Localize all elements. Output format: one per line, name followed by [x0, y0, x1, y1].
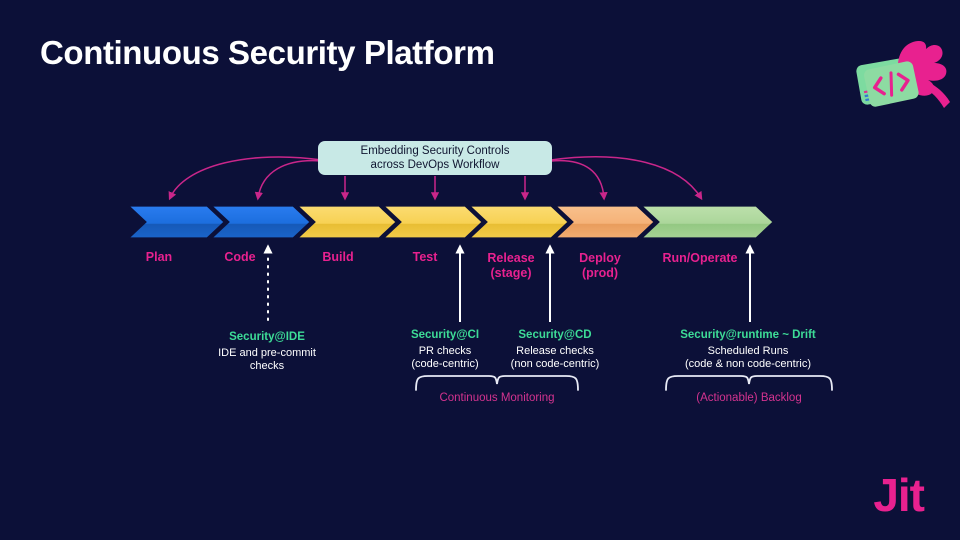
annotation-security-at-ci: Security@CI PR checks (code-centric)	[411, 329, 479, 372]
stage-label-plan-text: Plan	[146, 250, 172, 264]
callout-line-2: across DevOps Workflow	[371, 158, 500, 172]
annotation-ci-line-2: (code-centric)	[411, 358, 479, 372]
stage-label-plan: Plan	[146, 250, 172, 265]
slide-canvas: Continuous Security Platform	[0, 0, 960, 540]
annotation-security-at-runtime: Security@runtime ~ Drift Scheduled Runs …	[680, 329, 816, 372]
connector-to-run-operate	[551, 157, 701, 198]
connector-to-code	[258, 161, 322, 198]
annotation-ci-line-1: PR checks	[411, 345, 479, 359]
connector-to-plan	[170, 157, 322, 198]
stage-label-run-operate: Run/Operate	[662, 251, 737, 266]
annotation-cd-line-2: (non code-centric)	[511, 358, 600, 372]
chevron-code	[212, 206, 310, 238]
chevron-release	[470, 206, 568, 238]
chevron-test	[384, 206, 482, 238]
stage-label-code-text: Code	[224, 250, 255, 264]
stage-label-release-sub: (stage)	[487, 266, 534, 281]
chevron-plan	[129, 206, 224, 238]
stage-label-deploy: Deploy (prod)	[579, 251, 621, 281]
stage-label-deploy-sub: (prod)	[579, 266, 621, 281]
connector-to-deploy	[551, 161, 604, 198]
annotation-runtime-line-2: (code & non code-centric)	[680, 358, 816, 372]
annotation-runtime-head: Security@runtime ~ Drift	[680, 329, 816, 343]
annotation-ci-head: Security@CI	[411, 329, 479, 343]
stage-label-code: Code	[224, 250, 255, 265]
annotation-security-at-cd: Security@CD Release checks (non code-cen…	[511, 329, 600, 372]
callout-line-1: Embedding Security Controls	[361, 144, 510, 158]
stage-label-build: Build	[322, 250, 353, 265]
annotation-ide-head: Security@IDE	[218, 331, 316, 345]
stage-label-release-text: Release	[487, 251, 534, 265]
callout-box: Embedding Security Controls across DevOp…	[318, 141, 552, 175]
stage-label-test-text: Test	[413, 250, 438, 264]
brace-actionable-backlog	[666, 376, 832, 390]
stage-label-test: Test	[413, 250, 438, 265]
annotation-ide-line-1: IDE and pre-commit	[218, 347, 316, 361]
annotation-cd-line-1: Release checks	[511, 345, 600, 359]
brace-group	[416, 376, 832, 390]
annotation-cd-head: Security@CD	[511, 329, 600, 343]
diagram-vector-layer	[0, 0, 960, 540]
stage-label-build-text: Build	[322, 250, 353, 264]
page-title: Continuous Security Platform	[40, 34, 495, 72]
annotation-security-at-ide: Security@IDE IDE and pre-commit checks	[218, 331, 316, 374]
annotation-ide-line-2: checks	[218, 360, 316, 374]
annotation-runtime-line-1: Scheduled Runs	[680, 345, 816, 359]
chevron-run-operate	[642, 206, 773, 238]
chevron-deploy	[556, 206, 654, 238]
chevron-build	[298, 206, 396, 238]
stage-label-deploy-text: Deploy	[579, 251, 621, 265]
pipeline-chevrons	[129, 206, 773, 238]
stage-label-release: Release (stage)	[487, 251, 534, 281]
jit-wordmark: Jit	[873, 472, 924, 518]
brace-continuous-monitoring	[416, 376, 578, 390]
stage-label-run-operate-text: Run/Operate	[662, 251, 737, 265]
jit-hand-code-emblem	[848, 30, 952, 114]
brace-caption-actionable-backlog: (Actionable) Backlog	[696, 392, 801, 404]
brace-caption-continuous-monitoring: Continuous Monitoring	[439, 392, 554, 404]
